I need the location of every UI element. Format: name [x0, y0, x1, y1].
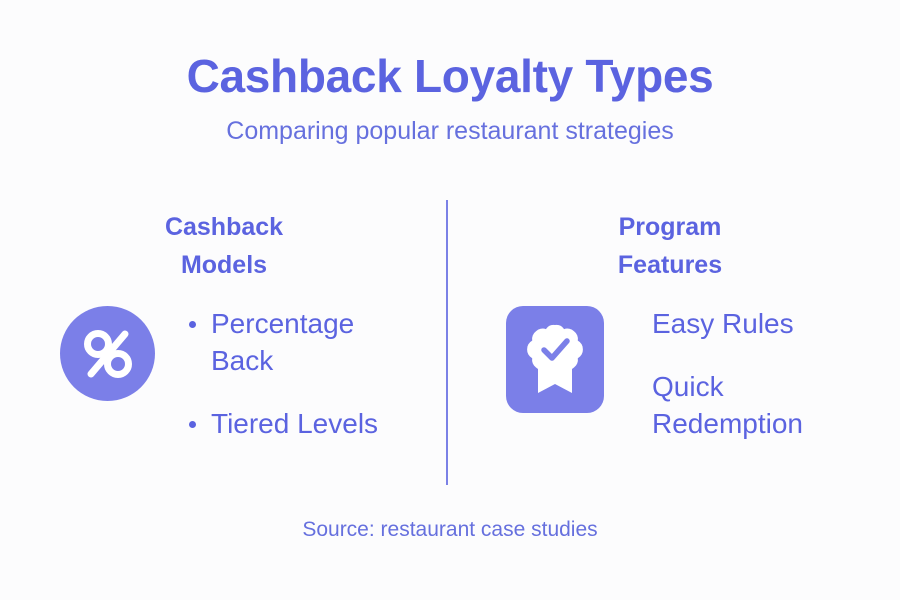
source-note: Source: restaurant case studies: [0, 518, 900, 542]
columns-container: Cashback Models Percentage Back Tiered: [0, 208, 900, 443]
page-subtitle: Comparing popular restaurant strategies: [0, 116, 900, 146]
infographic-canvas: Cashback Loyalty Types Comparing popular…: [0, 0, 900, 600]
column-cashback-models: Cashback Models Percentage Back Tiered: [0, 208, 450, 443]
footer: Source: restaurant case studies: [0, 518, 900, 542]
icon-wrap-right: [506, 306, 604, 413]
header: Cashback Loyalty Types Comparing popular…: [0, 52, 900, 146]
list-item: Tiered Levels: [183, 406, 413, 443]
list-cashback-models: Percentage Back Tiered Levels: [183, 306, 413, 443]
column-heading-line-2: Features: [450, 246, 890, 284]
column-body-cashback-models: Percentage Back Tiered Levels: [0, 306, 450, 443]
page-title: Cashback Loyalty Types: [0, 52, 900, 102]
list-item: Percentage Back: [183, 306, 413, 380]
column-program-features: Program Features: [450, 208, 900, 443]
list-item: Quick Redemption: [652, 369, 857, 443]
list-program-features: Easy Rules Quick Redemption: [652, 306, 857, 443]
list-item: Easy Rules: [652, 306, 857, 343]
column-heading-line-1: Cashback: [0, 208, 448, 246]
column-heading-line-2: Models: [0, 246, 448, 284]
column-heading-program-features: Program Features: [450, 208, 900, 284]
column-body-program-features: Easy Rules Quick Redemption: [450, 306, 900, 443]
award-badge-icon: [506, 306, 604, 413]
column-heading-line-1: Program: [450, 208, 890, 246]
percent-circle-icon: [60, 306, 155, 401]
icon-wrap-left: [60, 306, 155, 401]
column-heading-cashback-models: Cashback Models: [0, 208, 450, 284]
